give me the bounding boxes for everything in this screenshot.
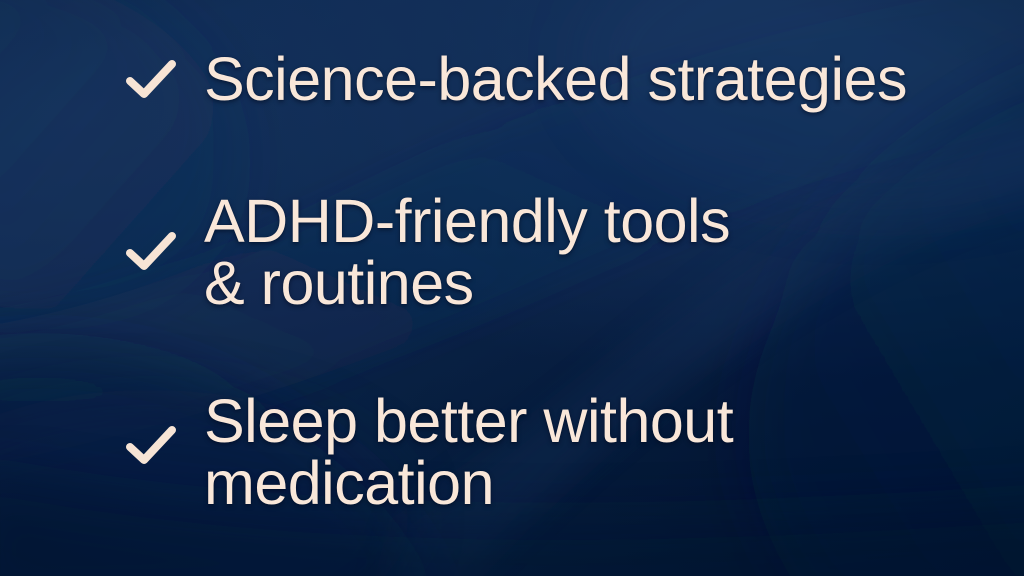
list-item-label: Sleep better without medication (204, 390, 733, 514)
check-icon (126, 414, 178, 476)
slide-canvas: Science-backed strategies ADHD-friendly … (0, 0, 1024, 576)
list-item: Sleep better without medication (126, 390, 733, 514)
list-item: Science-backed strategies (126, 48, 907, 110)
list-item: ADHD-friendly tools & routines (126, 190, 730, 314)
check-icon (126, 48, 178, 110)
checklist: Science-backed strategies ADHD-friendly … (0, 0, 1024, 576)
check-icon (126, 220, 178, 282)
list-item-label: Science-backed strategies (204, 48, 907, 110)
list-item-label: ADHD-friendly tools & routines (204, 190, 730, 314)
